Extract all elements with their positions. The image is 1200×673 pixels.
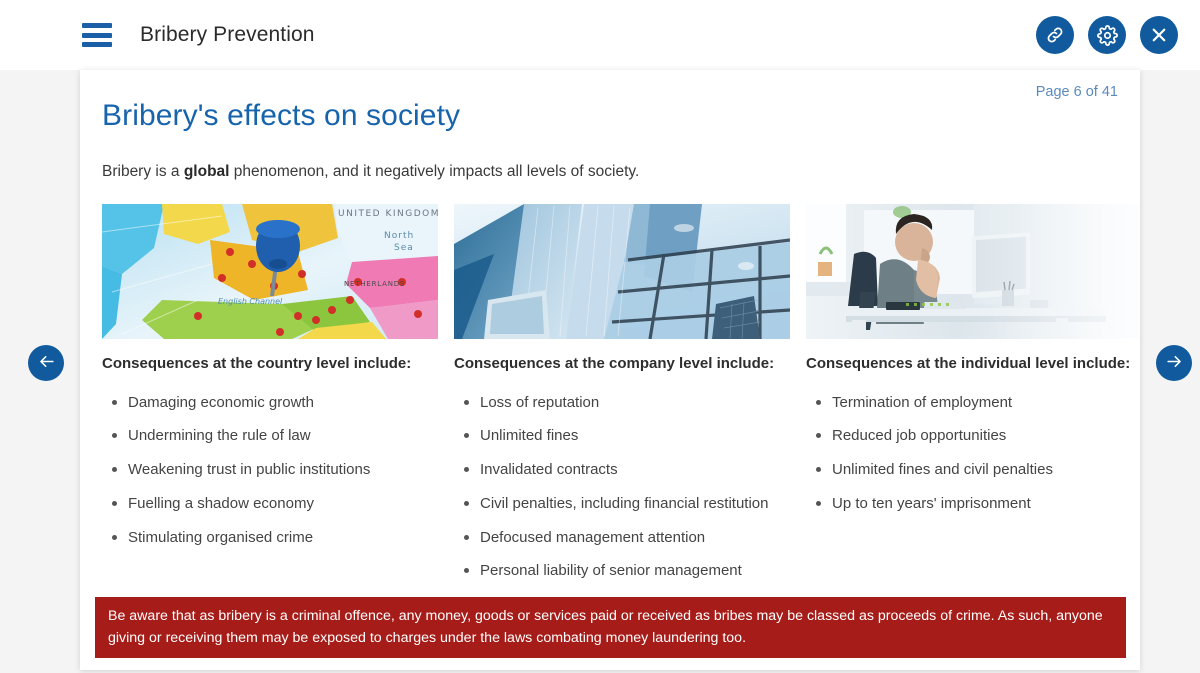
svg-text:Sea: Sea	[394, 243, 414, 253]
top-bar-actions	[1036, 16, 1178, 54]
consequences-columns: UNITED KINGDOM North Sea NETHERLANDS Eng…	[102, 204, 1118, 594]
column-heading: Consequences at the country level includ…	[102, 354, 438, 374]
next-page-button[interactable]	[1156, 345, 1192, 381]
slide-card: Page 6 of 41 Bribery's effects on societ…	[80, 70, 1140, 670]
consequences-list-country: Damaging economic growth Undermining the…	[102, 392, 438, 549]
arrow-right-icon	[1165, 352, 1184, 374]
svg-text:NETHERLANDS: NETHERLANDS	[344, 280, 405, 288]
intro-text-after: phenomenon, and it negatively impacts al…	[229, 163, 639, 180]
page-title: Bribery's effects on society	[102, 99, 1118, 133]
intro-text-bold: global	[184, 163, 230, 180]
consequences-list-company: Loss of reputation Unlimited fines Inval…	[454, 392, 790, 583]
link-icon	[1045, 25, 1065, 45]
hamburger-bar	[82, 23, 112, 28]
column-heading: Consequences at the individual level inc…	[806, 354, 1140, 374]
list-item: Unlimited fines and civil penalties	[830, 459, 1140, 481]
course-title: Bribery Prevention	[140, 23, 315, 47]
column-country-level: UNITED KINGDOM North Sea NETHERLANDS Eng…	[102, 204, 438, 594]
intro-text-before: Bribery is a	[102, 163, 184, 180]
list-item: Reduced job opportunities	[830, 425, 1140, 447]
settings-button[interactable]	[1088, 16, 1126, 54]
list-item: Fuelling a shadow economy	[126, 493, 438, 515]
hamburger-menu-icon[interactable]	[82, 23, 112, 47]
worried-office-worker-image	[806, 204, 1140, 339]
svg-text:North: North	[384, 231, 414, 241]
close-button[interactable]	[1140, 16, 1178, 54]
glass-skyscrapers-image	[454, 204, 790, 339]
list-item: Damaging economic growth	[126, 392, 438, 414]
hamburger-bar	[82, 42, 112, 47]
list-item: Invalidated contracts	[478, 459, 790, 481]
list-item: Undermining the rule of law	[126, 425, 438, 447]
column-individual-level: Consequences at the individual level inc…	[806, 204, 1140, 594]
gear-icon	[1097, 25, 1118, 46]
column-heading: Consequences at the company level includ…	[454, 354, 790, 374]
list-item: Weakening trust in public institutions	[126, 459, 438, 481]
close-icon	[1150, 26, 1168, 44]
list-item: Stimulating organised crime	[126, 527, 438, 549]
list-item: Defocused management attention	[478, 527, 790, 549]
list-item: Unlimited fines	[478, 425, 790, 447]
svg-text:English Channel: English Channel	[218, 297, 283, 306]
list-item: Termination of employment	[830, 392, 1140, 414]
consequences-list-individual: Termination of employment Reduced job op…	[806, 392, 1140, 515]
arrow-left-icon	[37, 352, 56, 374]
list-item: Personal liability of senior management	[478, 560, 790, 582]
page-indicator: Page 6 of 41	[1036, 84, 1118, 100]
column-company-level: Consequences at the company level includ…	[454, 204, 790, 594]
list-item: Civil penalties, including financial res…	[478, 493, 790, 515]
svg-text:UNITED KINGDOM: UNITED KINGDOM	[338, 209, 438, 219]
list-item: Up to ten years' imprisonment	[830, 493, 1140, 515]
intro-paragraph: Bribery is a global phenomenon, and it n…	[102, 163, 1118, 181]
hamburger-bar	[82, 33, 112, 38]
list-item: Loss of reputation	[478, 392, 790, 414]
previous-page-button[interactable]	[28, 345, 64, 381]
top-bar: Bribery Prevention	[0, 0, 1200, 70]
world-map-with-pushpin-image: UNITED KINGDOM North Sea NETHERLANDS Eng…	[102, 204, 438, 339]
link-button[interactable]	[1036, 16, 1074, 54]
warning-banner: Be aware that as bribery is a criminal o…	[95, 597, 1126, 658]
